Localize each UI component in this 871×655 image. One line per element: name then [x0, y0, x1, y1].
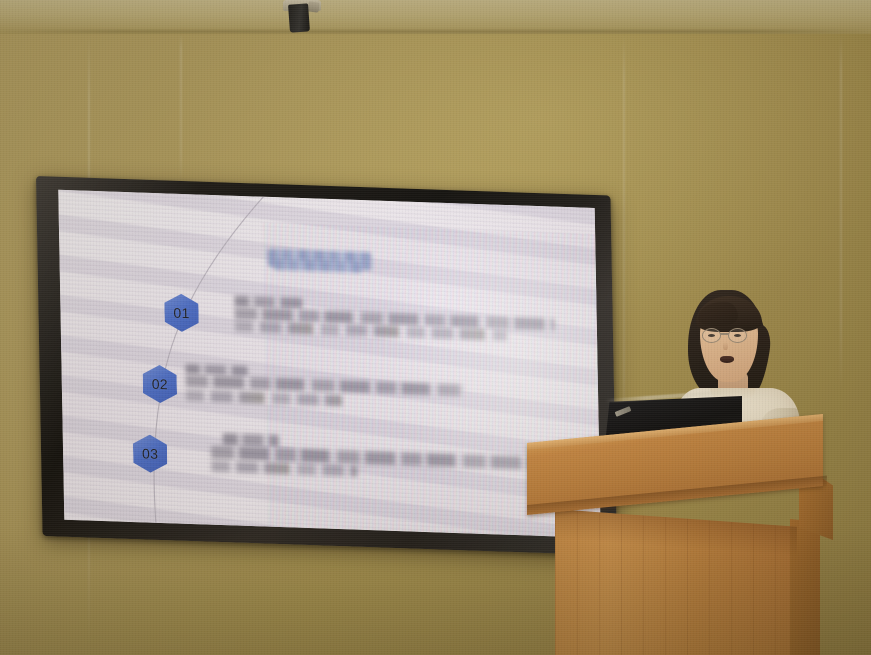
camera-arm	[307, 1, 319, 12]
ceiling-wall-edge	[0, 30, 871, 33]
floor-shadow	[0, 525, 871, 655]
eyeglasses-bridge	[720, 333, 729, 335]
presenter-nose	[723, 342, 728, 350]
eyeglasses-lens-left	[702, 328, 721, 343]
ceiling-soffit	[0, 0, 871, 34]
display-panel: 01 02 03	[58, 190, 600, 538]
wall-panel-seam	[180, 34, 182, 184]
wall-panel-seam	[840, 34, 842, 394]
presenter-mouth	[720, 356, 734, 363]
camera-body	[288, 3, 310, 32]
eyeglasses-lens-right	[728, 328, 747, 343]
room-photo: 01 02 03	[0, 0, 871, 655]
presentation-slide: 01 02 03	[58, 190, 600, 538]
ceiling-camera-icon	[283, 0, 321, 33]
